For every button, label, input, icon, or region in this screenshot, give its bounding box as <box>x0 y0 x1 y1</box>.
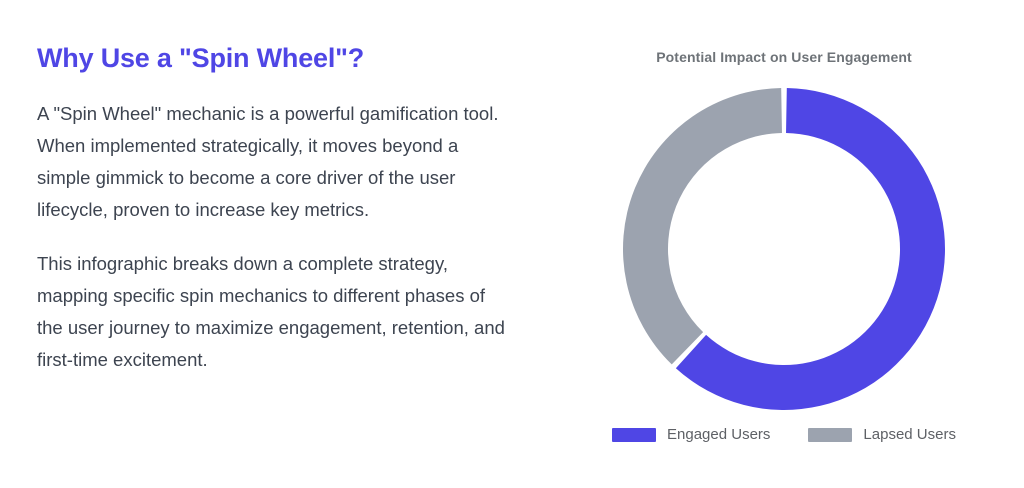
donut-chart-area <box>560 50 1008 410</box>
legend-label-engaged-users: Engaged Users <box>667 426 770 443</box>
infographic-page: Why Use a "Spin Wheel"? A "Spin Wheel" m… <box>0 0 1024 488</box>
intro-text-column: Why Use a "Spin Wheel"? A "Spin Wheel" m… <box>37 42 537 376</box>
intro-paragraph-1: A "Spin Wheel" mechanic is a powerful ga… <box>37 98 507 226</box>
donut-chart-svg <box>621 86 947 412</box>
legend-swatch-lapsed-users <box>808 428 852 442</box>
donut-slice-lapsed-users[interactable] <box>623 88 782 364</box>
legend-item-lapsed-users[interactable]: Lapsed Users <box>808 426 956 443</box>
legend-label-lapsed-users: Lapsed Users <box>863 426 956 443</box>
chart-legend: Engaged Users Lapsed Users <box>560 426 1008 443</box>
intro-paragraph-2: This infographic breaks down a complete … <box>37 248 515 376</box>
legend-swatch-engaged-users <box>612 428 656 442</box>
page-title: Why Use a "Spin Wheel"? <box>37 42 537 74</box>
engagement-donut-chart: Potential Impact on User Engagement Enga… <box>560 36 1008 456</box>
legend-item-engaged-users[interactable]: Engaged Users <box>612 426 770 443</box>
donut-slice-group <box>623 88 945 410</box>
